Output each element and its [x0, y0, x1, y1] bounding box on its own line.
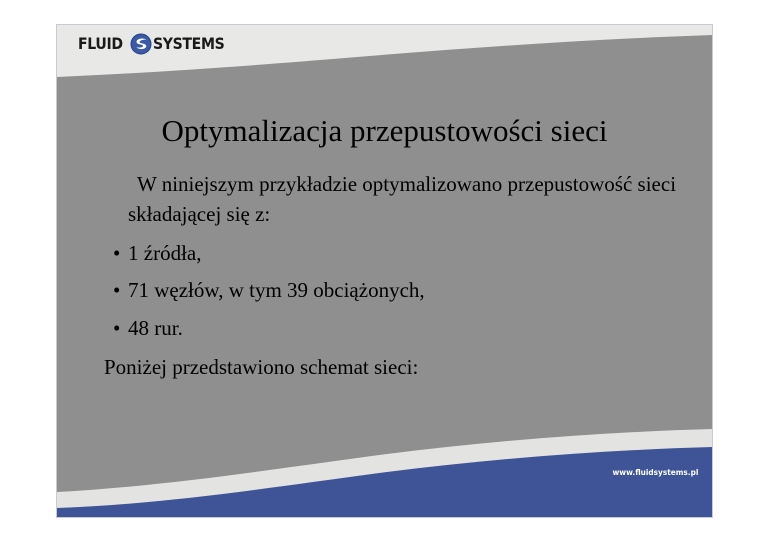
bullet-marker-icon: • [113, 276, 120, 306]
fluid-s-swirl-icon [130, 33, 152, 55]
bullet-marker-icon: • [113, 314, 120, 344]
list-item: • 1 źródła, [57, 239, 712, 269]
footer-wave-graphic [57, 412, 712, 517]
slide-body: W niniejszym przykładzie optymalizowano … [57, 170, 712, 383]
brand-logo: FLUID SYSTEMS [78, 33, 234, 55]
bullet-list: • 1 źródła, • 71 węzłów, w tym 39 obciąż… [57, 239, 712, 344]
list-item-label: 1 źródła, [128, 241, 201, 265]
presentation-slide: FLUID SYSTEMS Optymalizacja przepustowoś… [57, 25, 712, 517]
footer-website-url: www.fluidsystems.pl [612, 468, 698, 477]
slide-title: Optymalizacja przepustowości sieci [57, 113, 712, 149]
list-item-label: 71 węzłów, w tym 39 obciążonych, [128, 278, 425, 302]
list-item: • 48 rur. [57, 314, 712, 344]
bullet-marker-icon: • [113, 239, 120, 269]
intro-paragraph: W niniejszym przykładzie optymalizowano … [57, 170, 712, 230]
logo-text-fluid: FLUID [78, 36, 123, 52]
list-item: • 71 węzłów, w tym 39 obciążonych, [57, 276, 712, 306]
logo-text-systems: SYSTEMS [153, 36, 224, 52]
list-item-label: 48 rur. [128, 316, 183, 340]
closing-line: Poniżej przedstawiono schemat sieci: [57, 353, 712, 383]
